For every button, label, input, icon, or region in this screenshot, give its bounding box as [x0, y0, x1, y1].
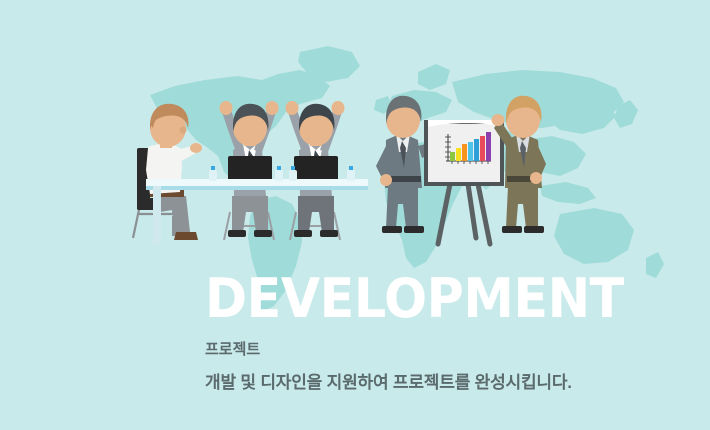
- description-text: 개발 및 디자인을 지원하여 프로젝트를 완성시킵니다.: [205, 368, 685, 393]
- flipchart-easel: [424, 120, 504, 244]
- subtitle-label: 프로젝트: [205, 338, 685, 359]
- figure-cheering-man-left: [220, 101, 279, 240]
- banner-text-block: DEVELOPMENT 프로젝트 개발 및 디자인을 지원하여 프로젝트를 완성…: [205, 272, 685, 393]
- page-title: DEVELOPMENT: [205, 272, 656, 326]
- figure-seated-man-with-laptop: [133, 104, 202, 240]
- development-banner: DEVELOPMENT 프로젝트 개발 및 디자인을 지원하여 프로젝트를 완성…: [0, 0, 710, 430]
